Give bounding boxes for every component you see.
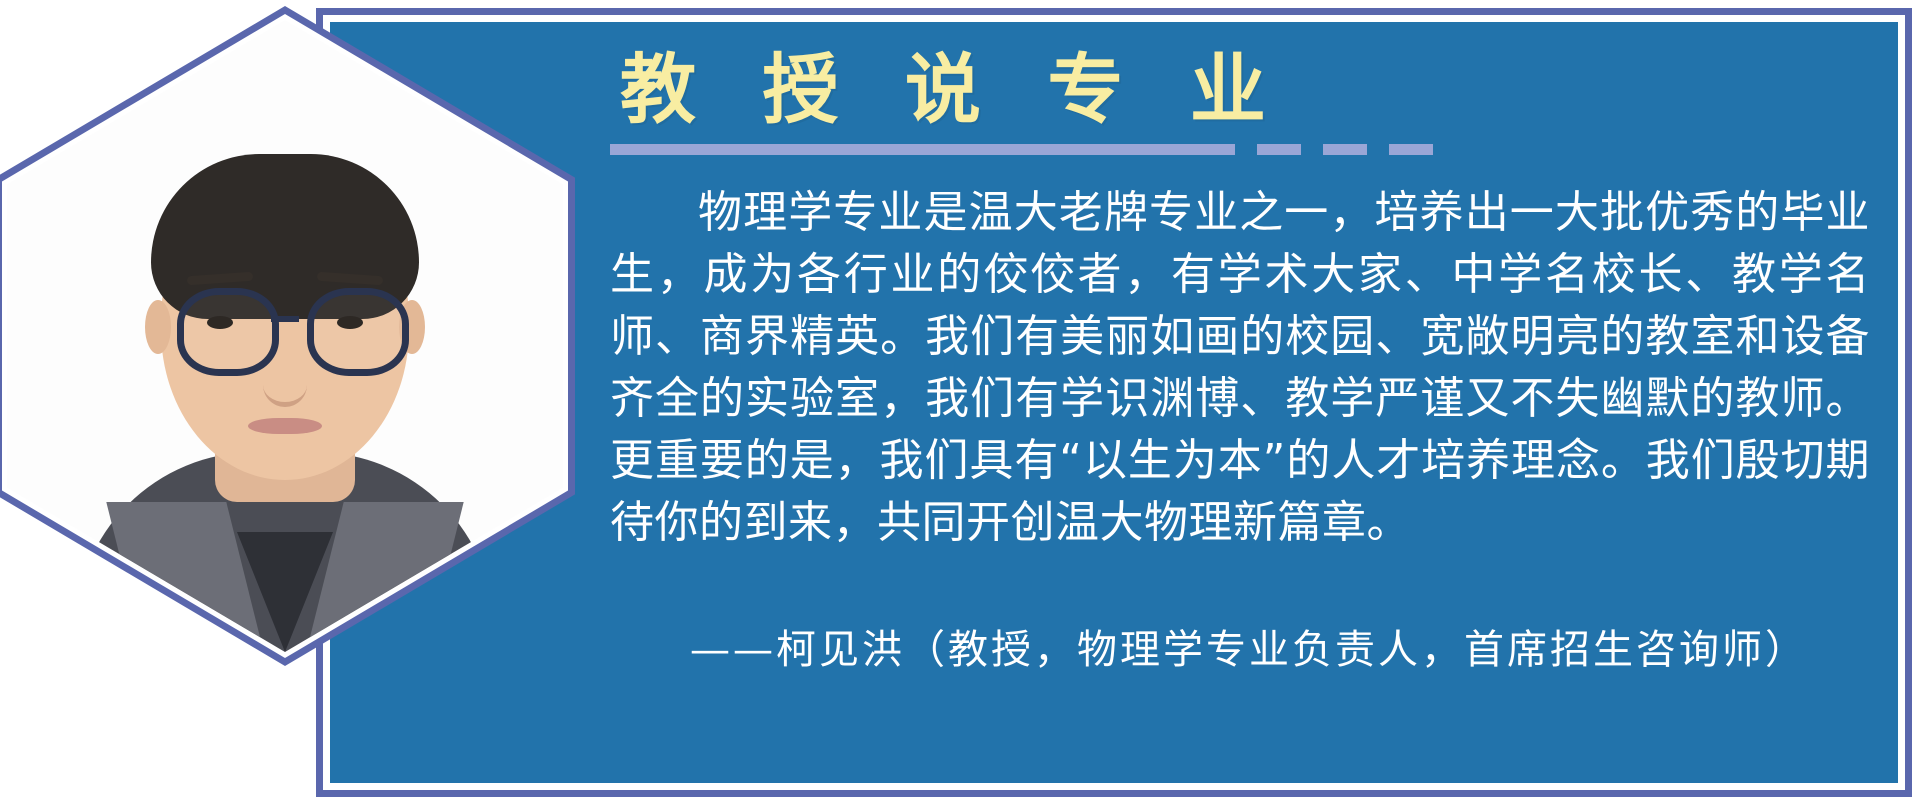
rule-gap-3 [1367, 144, 1389, 155]
rule-solid-segment [610, 144, 1235, 155]
title-underline-rule [610, 144, 1490, 155]
rule-gap-2 [1301, 144, 1323, 155]
professor-portrait-photo [7, 20, 563, 652]
portrait-mouth [248, 418, 322, 434]
intro-paragraph: 物理学专业是温大老牌专业之一，培养出一大批优秀的毕业生，成为各行业的佼佼者，有学… [610, 182, 1870, 554]
glasses-lens-right-icon [307, 288, 409, 376]
banner-content: 教 授 说 专 业 物理学专业是温大老牌专业之一，培养出一大批优秀的毕业生，成为… [610, 22, 1900, 782]
title-row: 教 授 说 专 业 [610, 22, 1900, 150]
portrait-hexagon-frame [0, 6, 575, 666]
portrait-nose [263, 356, 307, 407]
rule-dash-3 [1389, 144, 1433, 155]
rule-gap-1 [1235, 144, 1257, 155]
page-title: 教 授 说 专 业 [620, 52, 1286, 128]
rule-dash-2 [1323, 144, 1367, 155]
banner-stage: 教 授 说 专 业 物理学专业是温大老牌专业之一，培养出一大批优秀的毕业生，成为… [0, 0, 1920, 805]
rule-dash-1 [1257, 144, 1301, 155]
glasses-bridge-icon [271, 316, 299, 322]
portrait-ear-left [145, 300, 171, 354]
hexagon-photo-clip [7, 20, 563, 652]
signature-attribution: ——柯见洪（教授，物理学专业负责人，首席招生咨询师） [610, 617, 1870, 683]
